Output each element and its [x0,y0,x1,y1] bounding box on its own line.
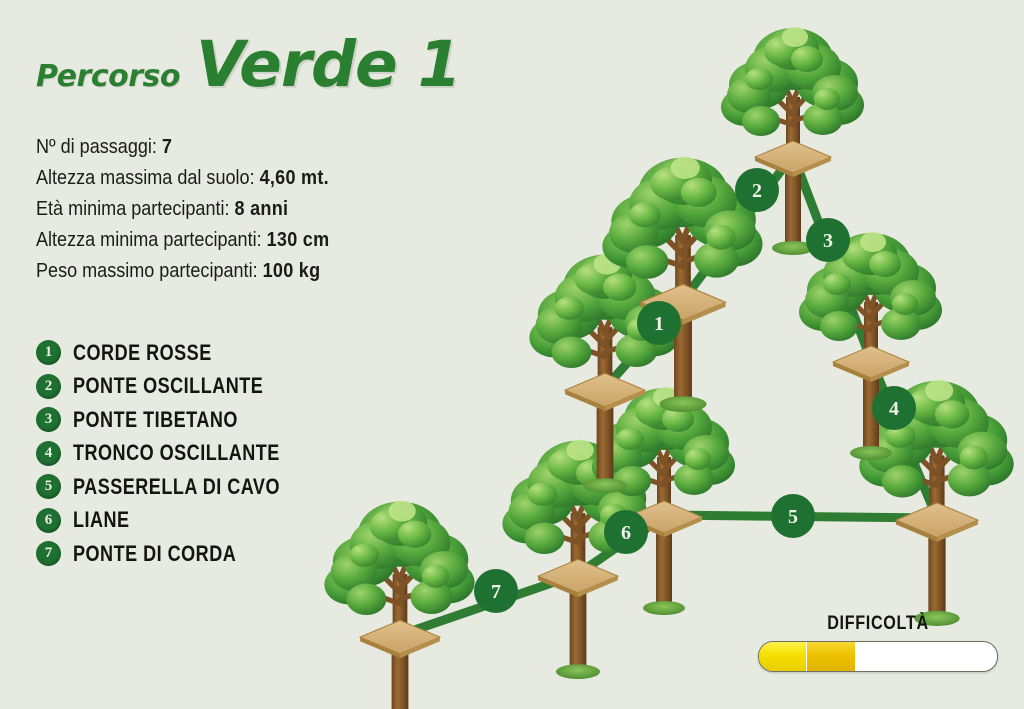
tree-left [529,254,679,493]
spec-peso-massimo-value: 100 kg [263,259,321,282]
course-specs: Nº di passaggi: 7 Altezza massima dal su… [36,131,436,286]
legend-badge-2: 2 [36,374,61,399]
spec-altezza-massima-label: Altezza massima dal suolo: [36,166,255,189]
legend-item-6[interactable]: 6 LIANE [36,504,325,538]
tree-apex [721,27,864,255]
legend-label-2: PONTE OSCILLANTE [73,373,263,399]
spec-altezza-massima-value: 4,60 mt. [260,166,329,189]
spec-peso-massimo-label: Peso massimo partecipanti: [36,259,258,282]
tree-mid [592,387,735,615]
legend-badge-4: 4 [36,441,61,466]
spec-passaggi-value: 7 [162,135,172,158]
spec-peso-massimo: Peso massimo partecipanti: 100 kg [36,255,388,286]
tree-right-3 [799,232,942,460]
legend-item-7[interactable]: 7 PONTE DI CORDA [36,537,325,571]
route-marker-5[interactable]: 5 [771,494,815,538]
spec-eta-minima: Età minima partecipanti: 8 anni [36,193,388,224]
legend-label-5: PASSERELLA DI CAVO [73,474,280,500]
route-segment-1 [605,300,683,388]
difficulty-segment-5 [950,642,997,671]
route-marker-4[interactable]: 4 [872,386,916,430]
difficulty-segment-2 [807,642,854,671]
legend-badge-6: 6 [36,508,61,533]
spec-passaggi: Nº di passaggi: 7 [36,131,388,162]
difficulty-label: DIFFICOLTÀ [776,613,980,635]
route-marker-5-label: 5 [788,506,798,528]
route-segment-2 [683,155,793,300]
legend-label-6: LIANE [73,507,130,533]
legend-label-1: CORDE ROSSE [73,340,212,366]
route-segment-7 [400,574,578,635]
route-segment-6 [578,515,664,574]
spec-altezza-minima-label: Altezza minima partecipanti: [36,228,262,251]
legend-label-4: TRONCO OSCILLANTE [73,440,280,466]
route-marker-7-label: 7 [491,581,501,603]
legend-badge-1: 1 [36,340,61,365]
route-marker-3-label: 3 [823,230,833,252]
legend-item-5[interactable]: 5 PASSERELLA DI CAVO [36,470,325,504]
route-marker-4-label: 4 [889,398,899,420]
tree-right-4 [859,380,1013,626]
legend-badge-5: 5 [36,474,61,499]
route-marker-7[interactable]: 7 [474,569,518,613]
difficulty-meter[interactable] [758,641,998,672]
legend-item-2[interactable]: 2 PONTE OSCILLANTE [36,370,325,404]
difficulty-segment-4 [902,642,949,671]
route-marker-1-label: 1 [654,313,664,335]
legend-item-3[interactable]: 3 PONTE TIBETANO [36,403,325,437]
legend-item-4[interactable]: 4 TRONCO OSCILLANTE [36,437,325,471]
legend-label-7: PONTE DI CORDA [73,541,236,567]
spec-altezza-minima: Altezza minima partecipanti: 130 cm [36,224,388,255]
spec-eta-minima-label: Età minima partecipanti: [36,197,230,220]
legend-badge-7: 7 [36,541,61,566]
route-marker-6-label: 6 [621,522,631,544]
route-segment-4 [871,360,937,518]
route-marker-6[interactable]: 6 [604,510,648,554]
route-path [400,155,937,635]
spec-eta-minima-value: 8 anni [235,197,289,220]
tree-far-left [324,501,474,709]
page-title: Percorso Verde 1 [36,28,461,101]
difficulty-segment-3 [855,642,902,671]
poster-root: 1 2 3 4 5 6 7 [0,0,1024,709]
page-title-prefix: Percorso [36,59,180,94]
legend-item-1[interactable]: 1 CORDE ROSSE [36,336,325,370]
route-marker-3[interactable]: 3 [806,218,850,262]
route-segment-5 [664,515,937,518]
legend-badge-3: 3 [36,407,61,432]
spec-passaggi-label: Nº di passaggi: [36,135,157,158]
route-marker-1[interactable]: 1 [637,301,681,345]
difficulty-widget: DIFFICOLTÀ [758,613,998,672]
spec-altezza-minima-value: 130 cm [267,228,330,251]
route-segment-3 [793,155,871,360]
route-marker-2[interactable]: 2 [735,168,779,212]
page-title-main: Verde 1 [196,28,461,101]
tree-low-mid [502,440,652,679]
difficulty-segment-1 [759,642,807,671]
legend-list: 1 CORDE ROSSE 2 PONTE OSCILLANTE 3 PONTE… [36,336,325,571]
route-marker-2-label: 2 [752,180,762,202]
tree-upper-left [602,157,762,412]
route-markers[interactable]: 1 2 3 4 5 6 7 [474,168,916,613]
spec-altezza-massima: Altezza massima dal suolo: 4,60 mt. [36,162,388,193]
tree-group [324,27,1013,709]
legend-label-3: PONTE TIBETANO [73,407,238,433]
